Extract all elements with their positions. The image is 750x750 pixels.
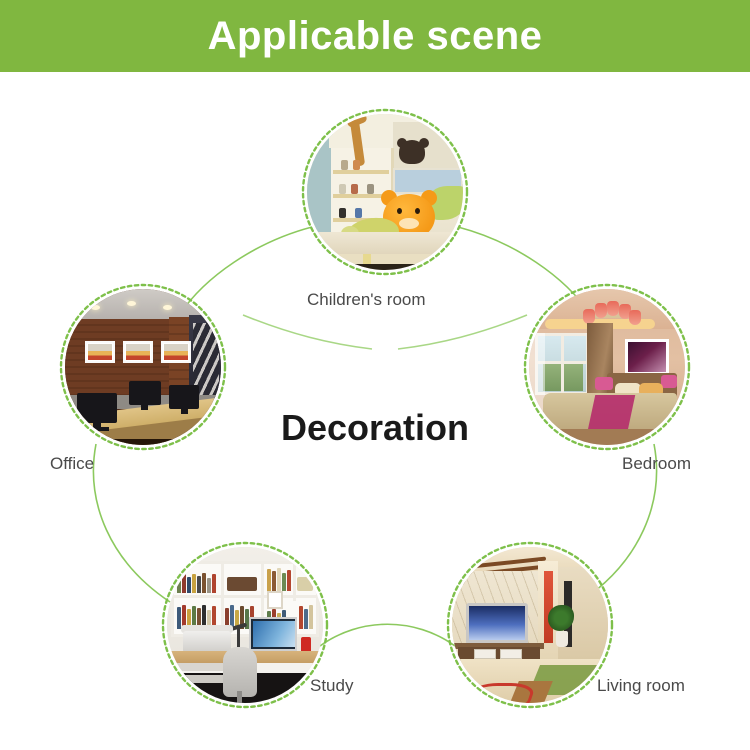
label-living: Living room — [597, 676, 685, 696]
label-bedroom: Bedroom — [622, 454, 691, 474]
node-study[interactable] — [160, 540, 330, 710]
node-bedroom[interactable] — [522, 282, 692, 452]
node-children[interactable] — [300, 107, 470, 277]
page-title: Applicable scene — [208, 16, 543, 56]
label-study: Study — [310, 676, 353, 696]
center-label: Decoration — [255, 407, 495, 449]
living-room-photo — [452, 547, 608, 703]
label-office: Office — [50, 454, 94, 474]
diagram-stage: Children's room — [0, 72, 750, 750]
bedroom-photo — [529, 289, 685, 445]
childrens-room-photo — [307, 114, 463, 270]
node-office[interactable] — [58, 282, 228, 452]
study-photo — [167, 547, 323, 703]
connector-office-study — [93, 444, 170, 602]
office-photo — [65, 289, 221, 445]
connector-inner-b — [398, 315, 527, 349]
node-living[interactable] — [445, 540, 615, 710]
connector-inner-a — [243, 315, 372, 349]
connector-study-living — [320, 624, 455, 646]
label-children: Children's room — [307, 290, 426, 310]
header-banner: Applicable scene — [0, 0, 750, 72]
applicable-scene-infographic: Applicable scene — [0, 0, 750, 750]
